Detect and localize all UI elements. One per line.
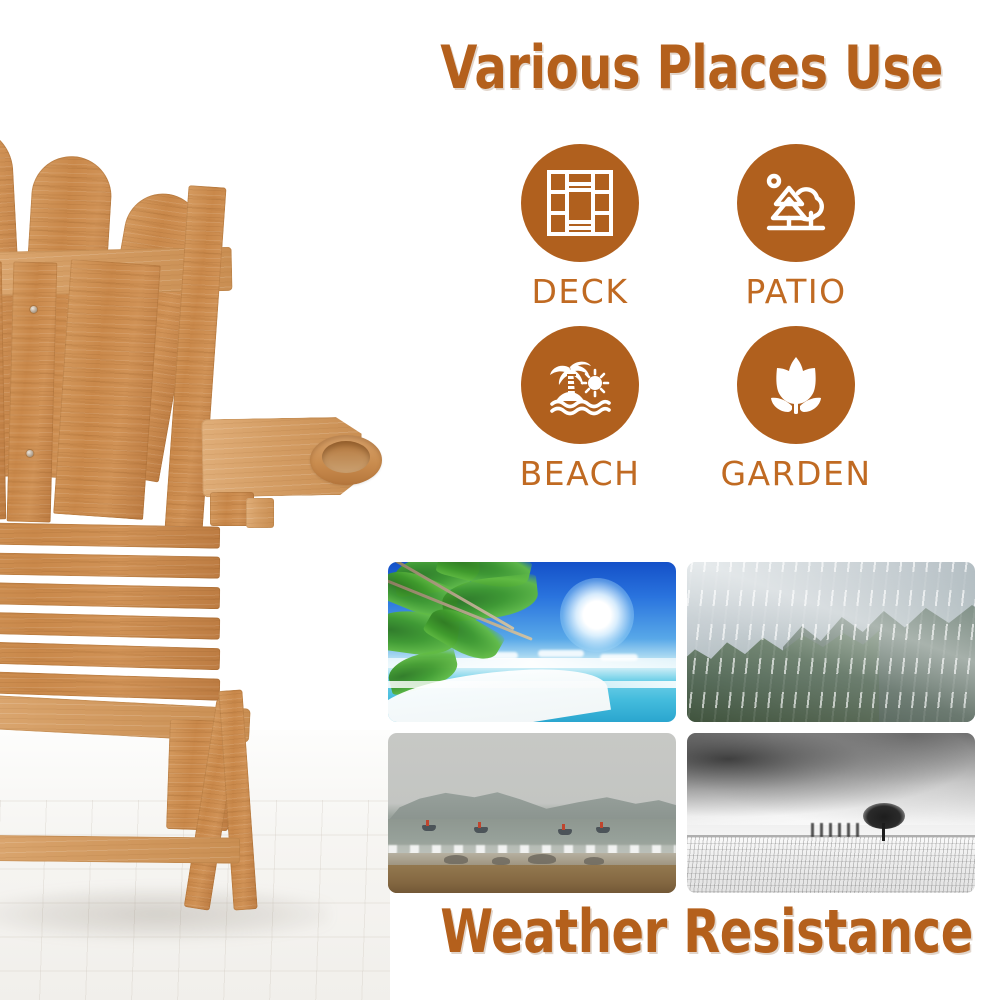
chair-shadow [0, 886, 330, 942]
back-slat [53, 259, 161, 520]
icon-cell-garden[interactable]: GARDEN [721, 326, 871, 494]
snow-field [687, 837, 975, 893]
use-places-icon-grid: DECK [478, 144, 898, 494]
seat-slat [0, 669, 220, 700]
distant-treeline [811, 823, 865, 837]
chair-leg-stretcher [0, 834, 240, 863]
icon-label-beach: BEACH [520, 454, 641, 494]
sand-flat [388, 865, 676, 893]
sunny-beach-photo [388, 562, 676, 722]
product-infographic: Various Places Use [0, 0, 1000, 1000]
page-footer-title: Weather Resistance [440, 900, 938, 964]
storm-clouds [687, 733, 975, 825]
icon-cell-beach[interactable]: BEACH [505, 326, 655, 494]
shore-rock [584, 857, 604, 865]
seat-slat [0, 640, 220, 670]
content-column: Various Places Use [378, 0, 1000, 1000]
shore-rock [444, 855, 468, 864]
icon-label-patio: PATIO [745, 272, 846, 312]
armrest-support [246, 498, 274, 528]
icon-row-bottom: BEACH [478, 326, 898, 494]
icon-cell-patio[interactable]: PATIO [721, 144, 871, 312]
deck-tiles-icon[interactable] [521, 144, 639, 262]
cloud [600, 654, 638, 661]
back-slat [7, 261, 58, 522]
icon-label-deck: DECK [532, 272, 629, 312]
product-photo [0, 0, 390, 1000]
sun-glow [560, 578, 634, 652]
cup-holder-opening [322, 441, 370, 473]
distant-hills [388, 785, 676, 821]
garden-tulip-icon[interactable] [737, 326, 855, 444]
page-title: Various Places Use [440, 36, 938, 100]
screw-head [30, 306, 37, 313]
beach-palm-icon[interactable] [521, 326, 639, 444]
fishing-boat [422, 825, 436, 831]
windy-coast-photo [388, 733, 676, 893]
seat-slat [0, 581, 220, 609]
shore-rock [528, 854, 556, 864]
fishing-boat [474, 827, 488, 833]
rainy-forest-photo [687, 562, 975, 722]
fishing-boat [596, 827, 610, 833]
screw-head [26, 450, 33, 457]
lone-tree [863, 803, 905, 841]
rain-streaks [687, 562, 975, 722]
tree-trunk [882, 823, 885, 841]
weather-photo-grid [388, 562, 974, 894]
snowy-field-photo [687, 733, 975, 893]
seat-slat [0, 521, 220, 548]
seat-slat [0, 610, 220, 639]
patio-trees-icon[interactable] [737, 144, 855, 262]
icon-cell-deck[interactable]: DECK [505, 144, 655, 312]
fishing-boat [558, 829, 572, 835]
shore-rock [492, 857, 510, 865]
seat-slat [0, 551, 220, 578]
icon-row-top: DECK [478, 144, 898, 312]
icon-label-garden: GARDEN [720, 454, 871, 494]
back-slat [0, 261, 6, 520]
